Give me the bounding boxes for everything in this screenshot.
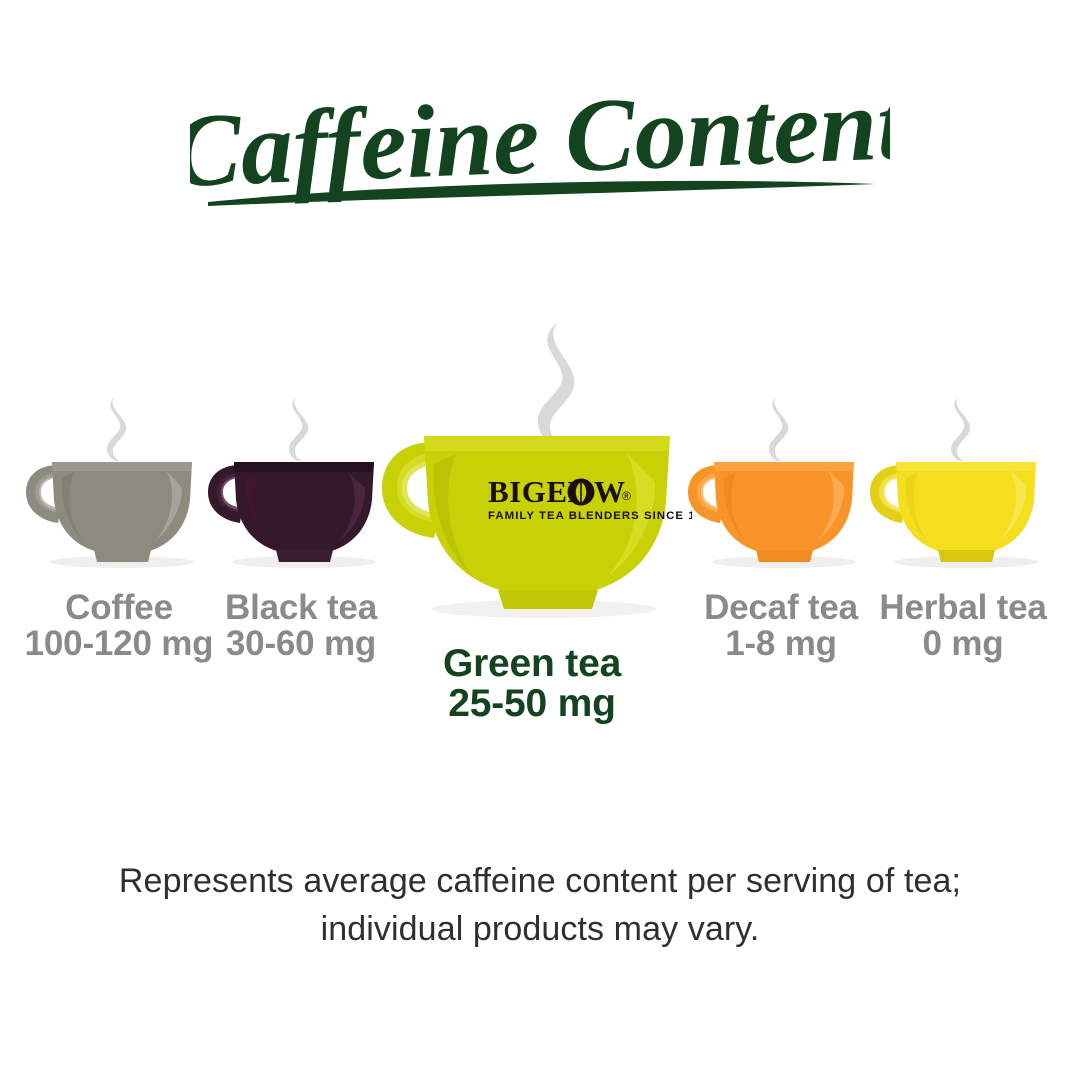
- footnote-line-2: individual products may vary.: [90, 905, 990, 953]
- cup-label-name: Green tea: [372, 644, 692, 684]
- steam-icon: [289, 396, 308, 461]
- cup-foot: [276, 550, 333, 562]
- registered-mark: ®: [622, 489, 631, 503]
- cup-label-value: 1-8 mg: [676, 626, 886, 662]
- cup-rim: [234, 462, 374, 472]
- cup-label-name: Decaf tea: [676, 590, 886, 626]
- cups-row: Coffee 100-120 mg Black tea 30-60 mg: [0, 300, 1080, 720]
- tea-leaf-icon: [568, 479, 595, 506]
- bigelow-tagline: FAMILY TEA BLENDERS SINCE 1945: [488, 510, 692, 522]
- cup-label-value: 0 mg: [858, 626, 1068, 662]
- cup-rim: [52, 462, 192, 471]
- cup-label-name: Herbal tea: [858, 590, 1068, 626]
- steam-icon: [951, 396, 970, 461]
- steam-icon: [107, 396, 126, 461]
- cup-foot: [756, 550, 813, 562]
- cup-label-name: Coffee: [14, 590, 224, 626]
- infographic-page: Caffeine Content: [0, 0, 1080, 1080]
- coffee-cup-illustration: [14, 392, 224, 582]
- cup-item-herbal-tea[interactable]: Herbal tea 0 mg: [858, 392, 1068, 661]
- page-title: Caffeine Content: [190, 72, 890, 222]
- footnote: Represents average caffeine content per …: [90, 857, 990, 954]
- cup-item-coffee[interactable]: Coffee 100-120 mg: [14, 392, 224, 661]
- steam-icon: [769, 396, 788, 461]
- green-tea-cup-illustration: BIGEL W ® FAMILY TEA BLENDERS SINCE 1945: [372, 314, 692, 634]
- decaf-tea-cup-illustration: [676, 392, 886, 582]
- cup-foot: [94, 550, 151, 562]
- cup-foot: [498, 590, 598, 609]
- bigelow-wordmark-post: W: [594, 474, 626, 509]
- steam-icon: [538, 322, 575, 446]
- cup-rim: [714, 462, 854, 471]
- title-block: Caffeine Content: [0, 72, 1080, 222]
- cup-foot: [938, 550, 995, 562]
- cup-item-decaf-tea[interactable]: Decaf tea 1-8 mg: [676, 392, 886, 661]
- cup-label-value: 100-120 mg: [14, 626, 224, 662]
- footnote-line-1: Represents average caffeine content per …: [90, 857, 990, 905]
- cup-item-green-tea[interactable]: BIGEL W ® FAMILY TEA BLENDERS SINCE 1945…: [372, 314, 692, 724]
- cup-rim: [896, 462, 1036, 471]
- herbal-tea-cup-illustration: [858, 392, 1068, 582]
- cup-label-value: 25-50 mg: [372, 684, 692, 724]
- cup-rim: [424, 436, 670, 451]
